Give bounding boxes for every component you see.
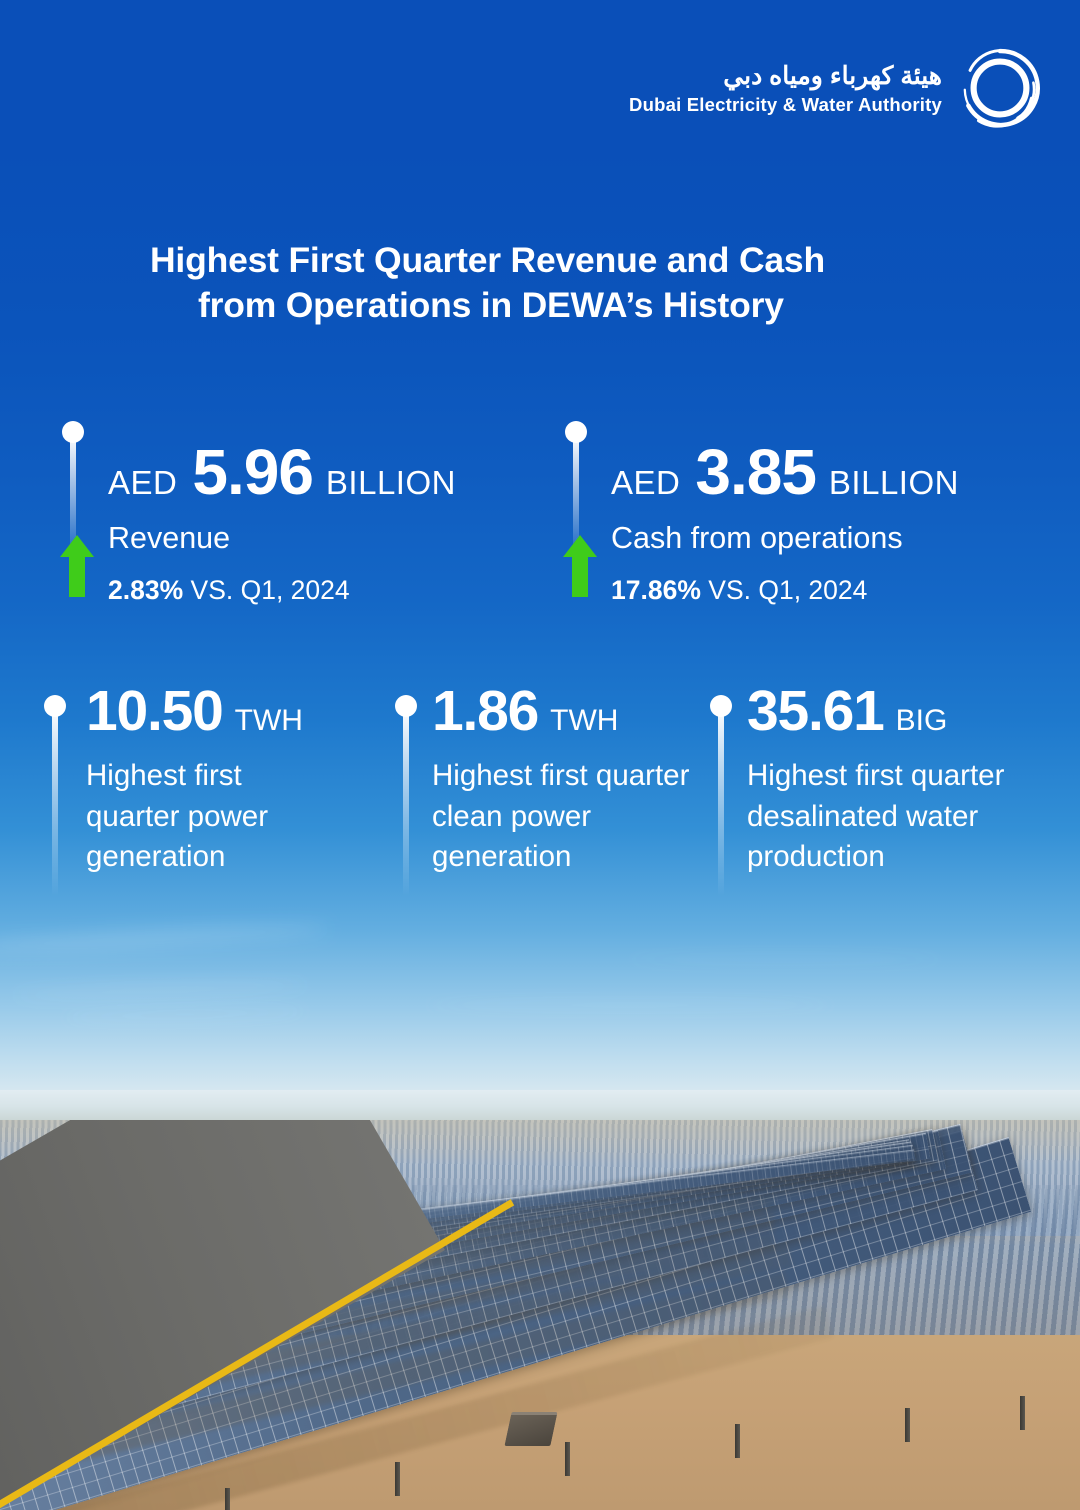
panel-mounting-post: [225, 1488, 230, 1510]
stat-value: 35.61: [747, 683, 884, 740]
cloud-wisp: [620, 955, 950, 964]
stat-change-compare: VS. Q1, 2024: [191, 575, 350, 605]
stat-value-line: AED 5.96 BILLION: [108, 440, 456, 504]
panel-mounting-post: [395, 1462, 400, 1496]
stat-value: 5.96: [192, 440, 313, 504]
pin-stem: [718, 711, 724, 896]
stat-description: Highest first quarter clean power genera…: [432, 756, 707, 878]
stat-unit: BIG: [896, 704, 948, 738]
dewa-logo: هيئة كهرباء ومياه دبي Dubai Electricity …: [629, 44, 1044, 132]
dewa-circular-swirl-icon: [956, 44, 1044, 132]
panel-mounting-post: [565, 1442, 570, 1476]
panel-mounting-post: [905, 1408, 910, 1442]
solar-farm-photo: [0, 1090, 1080, 1510]
stat-description: Highest first quarter power generation: [86, 756, 336, 878]
stat-change-compare: VS. Q1, 2024: [708, 575, 867, 605]
stat-label: Revenue: [108, 521, 456, 556]
pin-stem: [403, 711, 409, 896]
cloud-wisp: [420, 1000, 840, 1010]
junction-box: [504, 1412, 557, 1446]
stat-value-line: 35.61 BIG: [747, 683, 1067, 740]
stat-cash-from-operations: AED 3.85 BILLION Cash from operations 17…: [611, 440, 959, 606]
stat-value-line: AED 3.85 BILLION: [611, 440, 959, 504]
stat-value: 3.85: [695, 440, 816, 504]
logo-arabic-name: هيئة كهرباء ومياه دبي: [629, 61, 942, 91]
pin-stem: [52, 711, 58, 896]
stat-change: 17.86% VS. Q1, 2024: [611, 575, 959, 606]
stat-change-value: 2.83%: [108, 575, 183, 605]
stat-revenue: AED 5.96 BILLION Revenue 2.83% VS. Q1, 2…: [108, 440, 456, 606]
title-line-2: from Operations in DEWA’s History: [198, 283, 970, 328]
stat-desalinated-water-production: 35.61 BIG Highest first quarter desalina…: [747, 683, 1067, 878]
stat-unit: TWH: [235, 704, 303, 738]
stat-change-value: 17.86%: [611, 575, 701, 605]
arrow-up-icon-revenue: [60, 535, 94, 597]
panel-mounting-post: [735, 1424, 740, 1458]
stat-value: 10.50: [86, 683, 223, 740]
stat-value-line: 10.50 TWH: [86, 683, 336, 740]
stat-value: 1.86: [432, 683, 538, 740]
stat-power-generation: 10.50 TWH Highest first quarter power ge…: [86, 683, 336, 878]
arrow-up-icon-cash: [563, 535, 597, 597]
stat-clean-power-generation: 1.86 TWH Highest first quarter clean pow…: [432, 683, 707, 878]
logo-english-name: Dubai Electricity & Water Authority: [629, 94, 942, 116]
stat-unit: TWH: [550, 704, 618, 738]
panel-mounting-post: [1020, 1396, 1025, 1430]
horizon-haze: [0, 1090, 1080, 1120]
stat-currency: AED: [611, 464, 680, 502]
stat-value-line: 1.86 TWH: [432, 683, 707, 740]
logo-text-block: هيئة كهرباء ومياه دبي Dubai Electricity …: [629, 61, 942, 116]
page-title: Highest First Quarter Revenue and Cash f…: [150, 238, 970, 327]
infographic-poster: هيئة كهرباء ومياه دبي Dubai Electricity …: [0, 0, 1080, 1510]
stat-unit: BILLION: [326, 464, 456, 502]
stat-description: Highest first quarter desalinated water …: [747, 756, 1067, 878]
stat-currency: AED: [108, 464, 177, 502]
stat-unit: BILLION: [829, 464, 959, 502]
stat-label: Cash from operations: [611, 521, 959, 556]
stat-change: 2.83% VS. Q1, 2024: [108, 575, 456, 606]
title-line-1: Highest First Quarter Revenue and Cash: [150, 240, 825, 280]
